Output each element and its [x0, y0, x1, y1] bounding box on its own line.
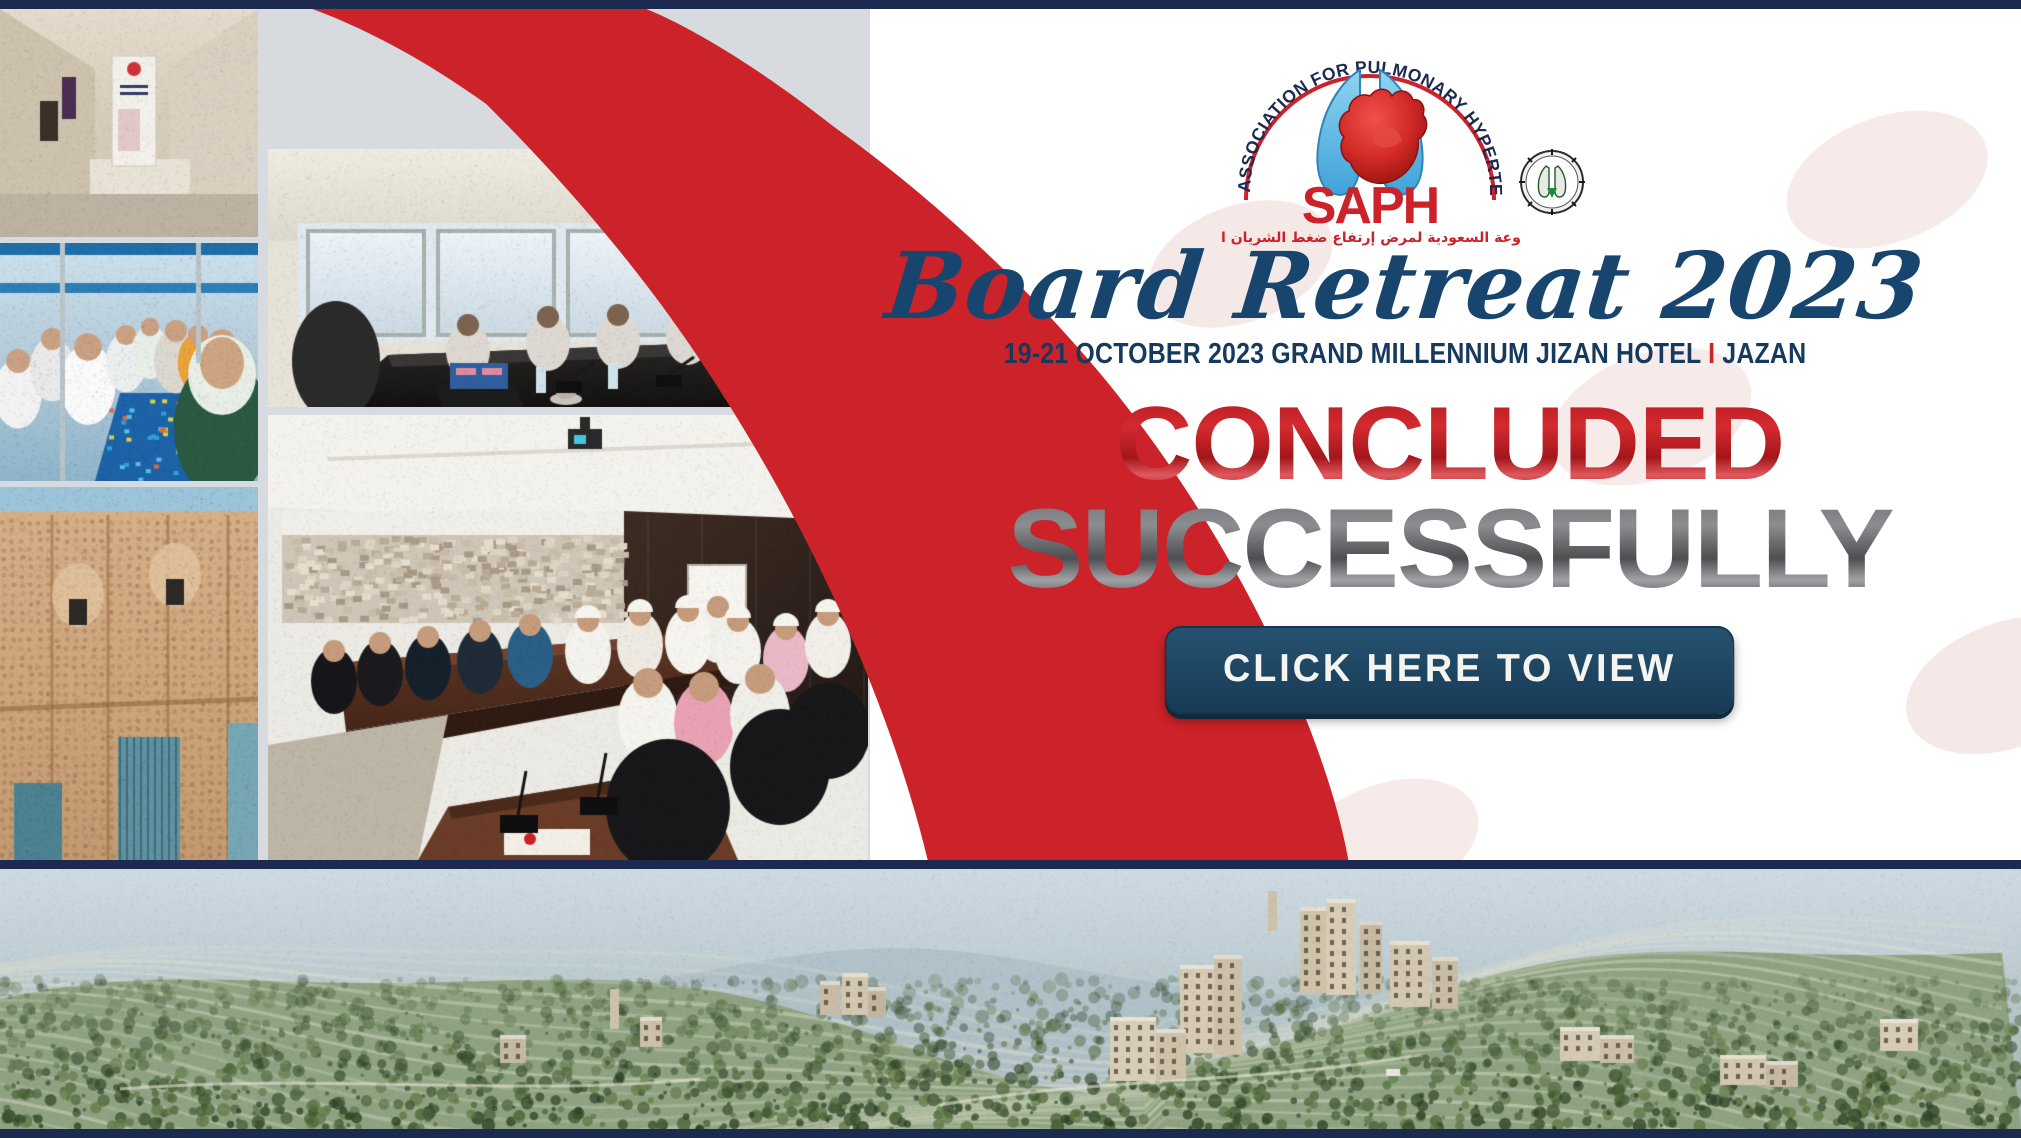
subtitle-dates-venue: 19-21 OCTOBER 2023 GRAND MILLENNIUM JIZA…: [1004, 338, 1708, 370]
headline-content: SAUDI ASSOCIATION FOR PULMONARY HYPERTEN…: [960, 0, 2021, 860]
gallery-photo-boardroom-window: [268, 149, 868, 407]
panorama-mountain-village: [0, 869, 2021, 1129]
upper-composition: SAUDI ASSOCIATION FOR PULMONARY HYPERTEN…: [0, 0, 2021, 860]
logo-lockup: SAUDI ASSOCIATION FOR PULMONARY HYPERTEN…: [1220, 18, 1980, 258]
subtitle-city: JAZAN: [1715, 338, 1806, 370]
event-title: Board Retreat 2023: [795, 240, 2015, 332]
gallery-photo-heritage-facade: [0, 487, 258, 860]
event-subtitle: 19-21 OCTOBER 2023 GRAND MILLENNIUM JIZA…: [885, 338, 1926, 371]
gallery-photo-boardroom-wide: [268, 415, 868, 860]
secondary-society-logo: [1516, 146, 1588, 218]
gallery-photo-hotel-corridor: [0, 9, 258, 237]
top-divider-rule: [0, 0, 2021, 9]
logo-acronym: SAPH: [1302, 177, 1438, 235]
gallery-photo-boat-group: [0, 243, 258, 481]
click-here-to-view-button[interactable]: CLICK HERE TO VIEW: [1165, 626, 1735, 714]
panorama-top-divider: [0, 860, 2021, 869]
subtitle-separator: I: [1708, 338, 1715, 370]
photo-collage: [0, 0, 870, 860]
cta-container: CLICK HERE TO VIEW: [860, 626, 2021, 714]
status-line-concluded: CONCLUDED: [848, 390, 2021, 499]
status-line-successfully: SUCCESSFULLY: [848, 490, 2021, 608]
panorama-bottom-divider: [0, 1129, 2021, 1138]
saph-board-retreat-banner: SAUDI ASSOCIATION FOR PULMONARY HYPERTEN…: [0, 0, 2021, 1138]
saph-logo: SAUDI ASSOCIATION FOR PULMONARY HYPERTEN…: [1220, 18, 1520, 248]
